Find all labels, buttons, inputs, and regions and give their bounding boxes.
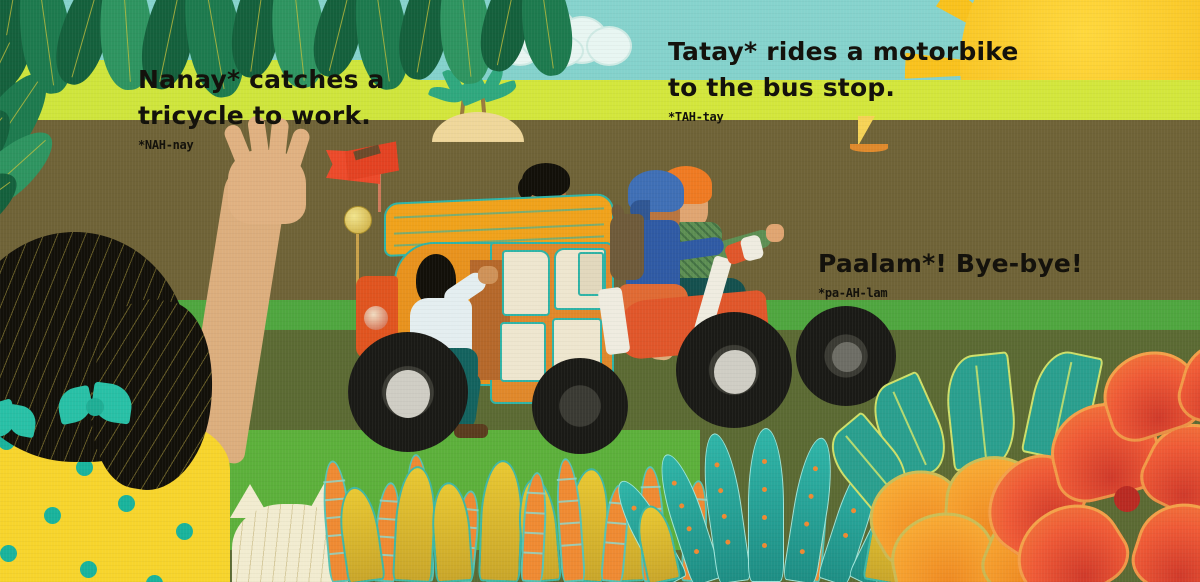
hibiscus-partial (1116, 340, 1200, 450)
picture-book-spread: Nanay* catches a tricycle to work. *NAH-… (0, 0, 1200, 582)
headlamp (364, 306, 388, 330)
hull (850, 144, 888, 152)
caption-line: to the bus stop. (668, 70, 1019, 106)
motorbike (580, 160, 840, 420)
flower-center (1114, 486, 1140, 512)
paalam-caption: Paalam*! Bye-bye! *pa-AH-lam (818, 246, 1083, 302)
hibiscus-flowers (880, 352, 1200, 582)
caption-line: Nanay* catches a (138, 62, 385, 98)
caption-line: tricycle to work. (138, 98, 385, 134)
wheel-hub (386, 370, 430, 418)
nanay-caption: Nanay* catches a tricycle to work. *NAH-… (138, 62, 385, 154)
yellow-spike (392, 465, 438, 582)
tatay-caption: Tatay* rides a motorbike to the bus stop… (668, 34, 1019, 126)
rear-wheel-hub (832, 342, 862, 372)
caption-line: Tatay* rides a motorbike (668, 34, 1019, 70)
front-wheel-hub (714, 350, 756, 394)
hair-bow (58, 382, 136, 434)
caption-line: Paalam*! Bye-bye! (818, 246, 1083, 282)
pronunciation: *NAH-nay (138, 136, 385, 154)
pronunciation: *TAH-tay (668, 108, 1019, 126)
backpack (610, 214, 644, 280)
tatay-hand (766, 224, 784, 242)
passenger-hand (478, 266, 498, 284)
yellow-spike (478, 459, 524, 582)
girl-hand (228, 150, 306, 224)
pronunciation: *pa-AH-lam (818, 284, 1083, 302)
teal-agave-leaf (748, 428, 784, 582)
